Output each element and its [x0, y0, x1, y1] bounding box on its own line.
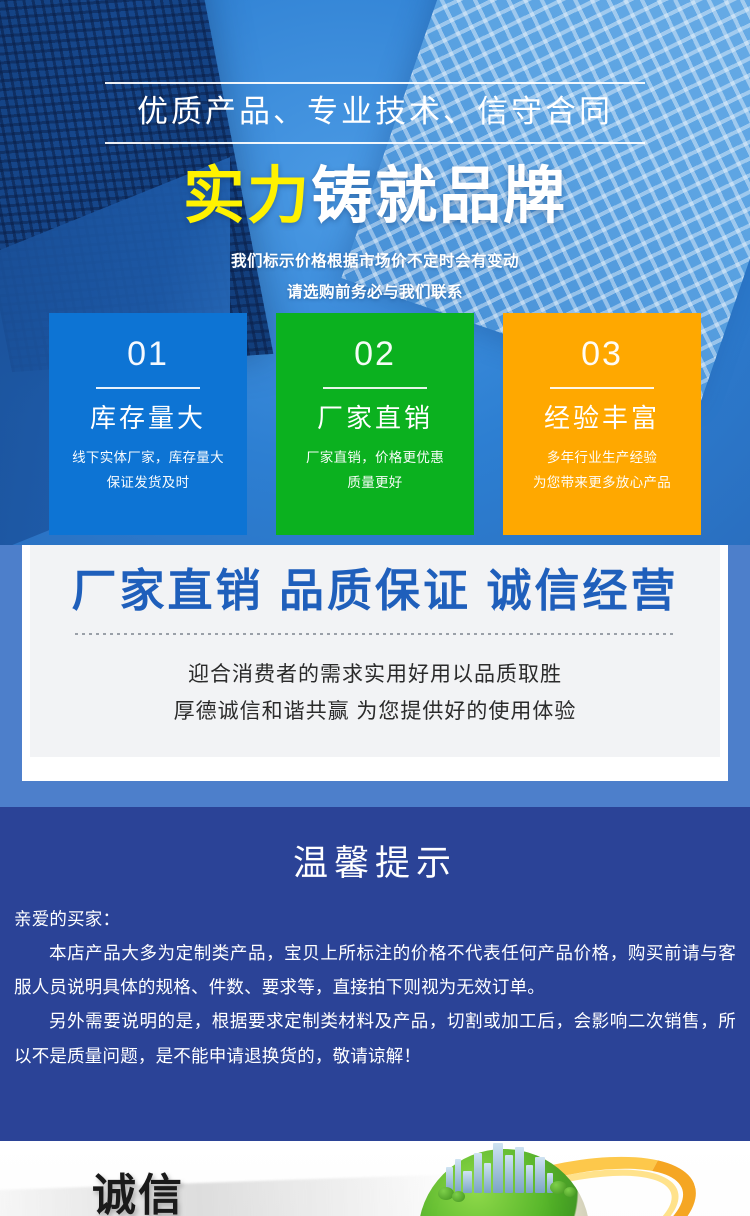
footer-banner: 诚信 Integrity 沟通·合作 communicate collabora…	[0, 1141, 750, 1216]
slogan-subtext-line-1: 迎合消费者的需求实用好用以品质取胜	[30, 657, 720, 694]
slogan-headline: 厂家直销 品质保证 诚信经营	[30, 563, 720, 619]
tips-salutation: 亲爱的买家：	[14, 902, 736, 936]
card-title: 经验丰富	[503, 403, 701, 434]
globe-illustration: North America	[390, 1141, 750, 1216]
tips-title: 温馨提示	[14, 835, 736, 886]
feature-card-3[interactable]: 03 经验丰富 多年行业生产经验 为您带来更多放心产品	[503, 313, 701, 535]
blue-separator-band	[0, 781, 750, 807]
card-divider	[96, 387, 200, 389]
feature-card-2[interactable]: 02 厂家直销 厂家直销，价格更优惠 质量更好	[276, 313, 474, 535]
card-title: 厂家直销	[276, 403, 474, 434]
hero-subtext-line-1: 我们标示价格根据市场价不定时会有变动	[0, 247, 750, 277]
card-desc-line-2: 保证发货及时	[49, 471, 247, 496]
tagline-rule-bottom	[105, 142, 645, 144]
card-number: 02	[276, 337, 474, 371]
tree-icon-4	[564, 1187, 576, 1197]
slogan-subtext-line-2: 厚德诚信和谐共赢 为您提供好的使用体验	[30, 694, 720, 731]
hero-banner: 优质产品、专业技术、信守合同 实力铸就品牌 我们标示价格根据市场价不定时会有变动…	[0, 0, 750, 545]
tips-paragraph-2: 另外需要说明的是，根据要求定制类材料及产品，切割或加工后，会影响二次销售，所以不…	[14, 1004, 736, 1072]
slogan-panel: 厂家直销 品质保证 诚信经营 迎合消费者的需求实用好用以品质取胜 厚德诚信和谐共…	[30, 545, 720, 757]
hero-tagline-block: 优质产品、专业技术、信守合同	[105, 0, 645, 144]
hero-content: 优质产品、专业技术、信守合同 实力铸就品牌 我们标示价格根据市场价不定时会有变动…	[0, 0, 750, 308]
feature-card-1[interactable]: 01 库存量大 线下实体厂家，库存量大 保证发货及时	[49, 313, 247, 535]
card-description: 线下实体厂家，库存量大 保证发货及时	[49, 446, 247, 496]
slogan-section: 厂家直销 品质保证 诚信经营 迎合消费者的需求实用好用以品质取胜 厚德诚信和谐共…	[0, 545, 750, 781]
tips-body: 亲爱的买家： 本店产品大多为定制类产品，宝贝上所标注的价格不代表任何产品价格，购…	[14, 902, 736, 1073]
card-description: 厂家直销，价格更优惠 质量更好	[276, 446, 474, 496]
card-number: 01	[49, 337, 247, 371]
card-desc-line-1: 厂家直销，价格更优惠	[276, 446, 474, 471]
hero-subtext: 我们标示价格根据市场价不定时会有变动 请选购前务必与我们联系	[0, 247, 750, 307]
city-skyline-icon	[444, 1141, 554, 1193]
hero-tagline: 优质产品、专业技术、信守合同	[105, 84, 645, 142]
promo-page: 优质产品、专业技术、信守合同 实力铸就品牌 我们标示价格根据市场价不定时会有变动…	[0, 0, 750, 1216]
hero-headline-rest: 铸就品牌	[311, 162, 567, 231]
tips-section: 温馨提示 亲爱的买家： 本店产品大多为定制类产品，宝贝上所标注的价格不代表任何产…	[0, 807, 750, 1141]
footer-primary-cn: 诚信	[92, 1159, 184, 1216]
tips-paragraph-1: 本店产品大多为定制类产品，宝贝上所标注的价格不代表任何产品价格，购买前请与客服人…	[14, 936, 736, 1004]
hero-subtext-line-2: 请选购前务必与我们联系	[0, 278, 750, 308]
card-divider	[323, 387, 427, 389]
card-number: 03	[503, 337, 701, 371]
tree-icon-2	[452, 1191, 465, 1202]
card-description: 多年行业生产经验 为您带来更多放心产品	[503, 446, 701, 496]
hero-headline-accent: 实力	[183, 162, 311, 231]
slogan-subtext: 迎合消费者的需求实用好用以品质取胜 厚德诚信和谐共赢 为您提供好的使用体验	[30, 657, 720, 731]
card-desc-line-2: 为您带来更多放心产品	[503, 471, 701, 496]
card-title: 库存量大	[49, 403, 247, 434]
slogan-dotted-divider	[75, 633, 675, 635]
hero-headline: 实力铸就品牌	[0, 162, 750, 231]
card-divider	[550, 387, 654, 389]
card-desc-line-1: 线下实体厂家，库存量大	[49, 446, 247, 471]
card-desc-line-1: 多年行业生产经验	[503, 446, 701, 471]
card-desc-line-2: 质量更好	[276, 471, 474, 496]
feature-cards: 01 库存量大 线下实体厂家，库存量大 保证发货及时 02 厂家直销 厂家直销，…	[0, 313, 750, 535]
